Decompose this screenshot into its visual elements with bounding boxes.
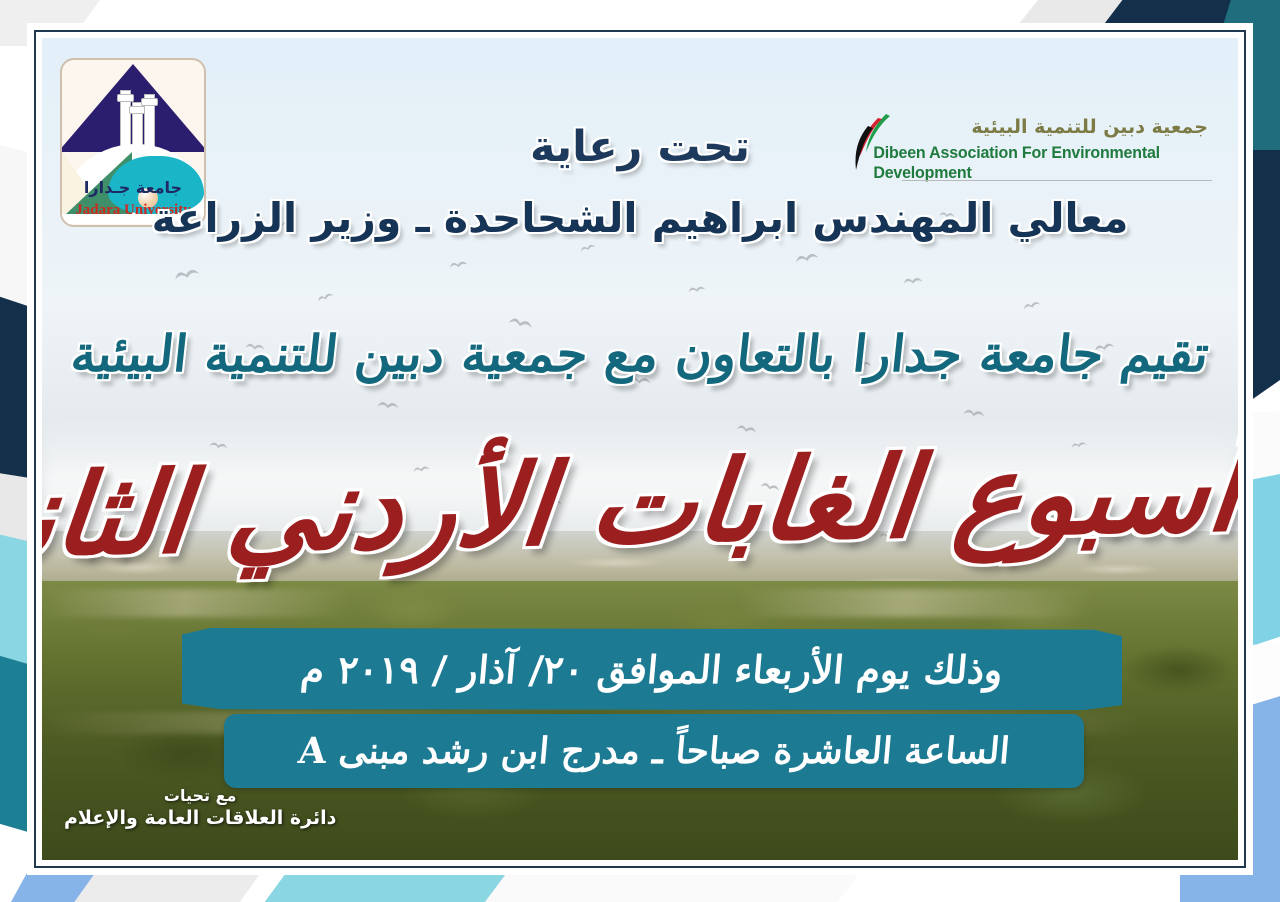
jadara-logo-column-left-capital [117,94,134,102]
date-text: وذلك يوم الأربعاء الموافق ٢٠/ آذار / ٢٠١… [178,628,1125,710]
patronage-label: تحت رعاية [42,122,1238,172]
bird-silhouette-icon [172,266,200,285]
poster-root: جامعة جـدارا Jadara University جمعية دبي… [0,0,1280,902]
footer-credit: مع تحيات دائرة العلاقات العامة والإعلام [64,785,336,832]
bird-silhouette-icon [795,250,821,267]
poster-frame: جامعة جـدارا Jadara University جمعية دبي… [34,30,1246,868]
time-venue-banner: الساعة العاشرة صباحاً ـ مدرج ابن رشد مبن… [224,714,1084,788]
bird-silhouette-icon [1022,299,1042,313]
patron-name: معالي المهندس ابراهيم الشحاحدة ـ وزير ال… [42,194,1238,242]
time-venue-text: الساعة العاشرة صباحاً ـ مدرج ابن رشد مبن… [221,714,1087,788]
date-banner: وذلك يوم الأربعاء الموافق ٢٠/ آذار / ٢٠١… [182,628,1122,710]
headline-block: تحت رعاية معالي المهندس ابراهيم الشحاحدة… [42,122,1238,242]
main-event-title: أسبوع الغابات الأردني الثاني [42,425,1238,581]
bird-silhouette-icon [316,290,335,305]
footer-greeting: مع تحيات [64,785,336,807]
bird-silhouette-icon [448,259,468,272]
jadara-logo-column-right-capital [141,98,158,106]
organizers-line: تقيم جامعة جدارا بالتعاون مع جمعية دبين … [42,324,1238,383]
poster-canvas: جامعة جـدارا Jadara University جمعية دبي… [42,38,1238,860]
bird-silhouette-icon [962,406,986,421]
bird-silhouette-icon [687,284,706,296]
bird-silhouette-icon [376,399,399,413]
footer-department: دائرة العلاقات العامة والإعلام [64,806,336,832]
bird-silhouette-icon [903,276,924,288]
bird-silhouette-icon [579,241,597,254]
